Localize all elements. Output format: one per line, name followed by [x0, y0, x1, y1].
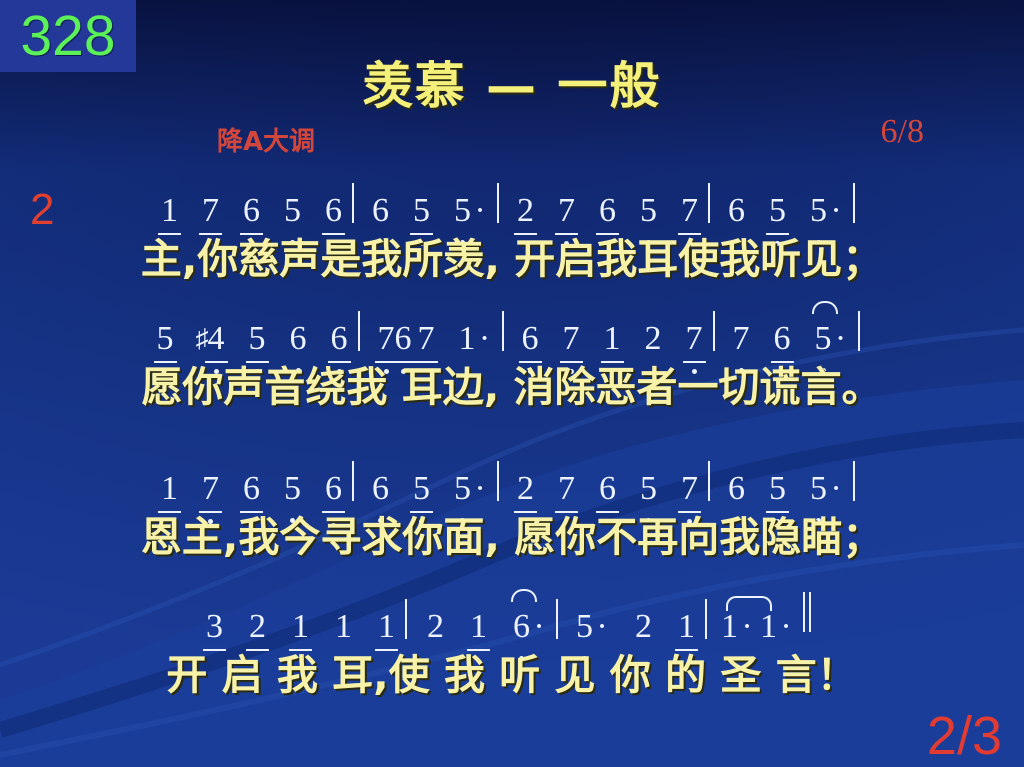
note: 5	[768, 472, 787, 506]
note: 7	[732, 322, 751, 356]
note: 1	[759, 610, 778, 644]
note: 6	[521, 322, 540, 356]
barline	[853, 183, 855, 223]
note: 7	[557, 472, 576, 506]
note: 6	[330, 322, 349, 356]
note: 6	[598, 472, 617, 506]
barline	[708, 183, 710, 223]
lyrics-row: 恩主,我今寻求你面, 愿你不再向我隐瞄；	[0, 506, 1024, 568]
barline	[556, 599, 558, 639]
page-title: 羡慕 — 一般	[0, 58, 1024, 114]
duration-dot: ·	[472, 194, 488, 228]
note: 2	[426, 610, 445, 644]
note: 1	[603, 322, 622, 356]
music-system: 32111216·5·211·1·开 启 我 耳,使 我 听 见 你 的 圣 言…	[0, 588, 1024, 706]
barline	[858, 311, 860, 351]
notation-row: 32111216·5·211·1·	[0, 588, 1024, 644]
duration-dot: ·	[477, 322, 493, 356]
note: 6	[242, 194, 261, 228]
time-signature: 6/8	[881, 114, 924, 150]
barline	[497, 183, 499, 223]
note: 5	[412, 472, 431, 506]
note: 6	[289, 322, 308, 356]
verse-number: 2	[30, 188, 54, 232]
fermata-icon	[511, 589, 537, 602]
note: 7	[680, 472, 699, 506]
barline	[497, 461, 499, 501]
tie-group: 1·1	[720, 610, 778, 644]
note: 1	[469, 610, 488, 644]
music-system: 217656655·27657655·主,你慈声是我所羡, 开启我耳使我听见；	[0, 172, 1024, 290]
barline	[358, 311, 360, 351]
music-system: 5♯45667671·67127765·愿你声音绕我 耳边, 消除恶者一切谎言。	[0, 300, 1024, 418]
note: 5	[283, 194, 302, 228]
note: 5	[768, 194, 787, 228]
note: 6	[727, 472, 746, 506]
note: 7	[557, 194, 576, 228]
duration-dot: ·	[739, 610, 755, 644]
note: 5	[412, 194, 431, 228]
note: 1	[458, 322, 477, 356]
duration-dot: ·	[594, 610, 610, 644]
note: 6	[371, 472, 390, 506]
note: 1	[291, 610, 310, 644]
note: 1	[677, 610, 696, 644]
duration-dot: ·	[472, 472, 488, 506]
note: 5	[575, 610, 594, 644]
note: 5	[639, 472, 658, 506]
note: 5	[453, 472, 472, 506]
duration-dot: ·	[531, 610, 547, 644]
note: 5	[814, 322, 833, 356]
barline	[853, 461, 855, 501]
note: 7	[201, 194, 220, 228]
note: 1	[160, 472, 179, 506]
duration-dot: ·	[833, 322, 849, 356]
barline	[352, 461, 354, 501]
hymn-number: 328	[20, 8, 115, 65]
note: 5	[248, 322, 267, 356]
final-barline	[803, 592, 815, 639]
notation-row: 217656655·27657655·	[0, 172, 1024, 228]
notation-row: 17656655·27657655·	[0, 450, 1024, 506]
note: 2	[516, 472, 535, 506]
note: 5	[283, 472, 302, 506]
note: 7	[680, 194, 699, 228]
note: 2	[634, 610, 653, 644]
key-signature: 降A大调	[136, 128, 396, 156]
note: 2	[516, 194, 535, 228]
note: 76	[377, 322, 413, 356]
barline	[502, 311, 504, 351]
barline	[708, 461, 710, 501]
note: 5	[453, 194, 472, 228]
fermata-icon	[812, 301, 838, 314]
music-system: 17656655·27657655·恩主,我今寻求你面, 愿你不再向我隐瞄；	[0, 450, 1024, 568]
lyrics-row: 开 启 我 耳,使 我 听 见 你 的 圣 言！	[0, 644, 1024, 706]
page-indicator: 2/3	[927, 707, 1002, 765]
note: 1	[160, 194, 179, 228]
barline	[713, 311, 715, 351]
note: 6	[371, 194, 390, 228]
note: 2	[644, 322, 663, 356]
note: 5	[156, 322, 175, 356]
barline	[405, 599, 407, 639]
note: 5	[809, 194, 828, 228]
slide-canvas: 328 羡慕 — 一般 降A大调 6/8 217656655·27657655·…	[0, 0, 1024, 767]
note: 6	[727, 194, 746, 228]
note: 6	[324, 194, 343, 228]
lyrics-row: 愿你声音绕我 耳边, 消除恶者一切谎言。	[0, 356, 1024, 418]
duration-dot: ·	[828, 194, 844, 228]
duration-dot: ·	[778, 610, 794, 644]
note: 3	[205, 610, 224, 644]
lyrics-row: 主,你慈声是我所羡, 开启我耳使我听见；	[0, 228, 1024, 290]
note: 5	[639, 194, 658, 228]
note: ♯4	[195, 322, 226, 356]
barline	[352, 183, 354, 223]
note: 7	[685, 322, 704, 356]
note: 1	[720, 610, 739, 644]
note: 2	[248, 610, 267, 644]
notation-row: 5♯45667671·67127765·	[0, 300, 1024, 356]
note: 6	[598, 194, 617, 228]
note: 7	[417, 322, 436, 356]
note: 7	[562, 322, 581, 356]
note: 6	[773, 322, 792, 356]
note: 6	[324, 472, 343, 506]
note: 7	[201, 472, 220, 506]
note: 1	[377, 610, 396, 644]
note: 1	[334, 610, 353, 644]
note: 5	[809, 472, 828, 506]
note: 6	[242, 472, 261, 506]
note: 6	[512, 610, 531, 644]
duration-dot: ·	[828, 472, 844, 506]
barline	[705, 599, 707, 639]
